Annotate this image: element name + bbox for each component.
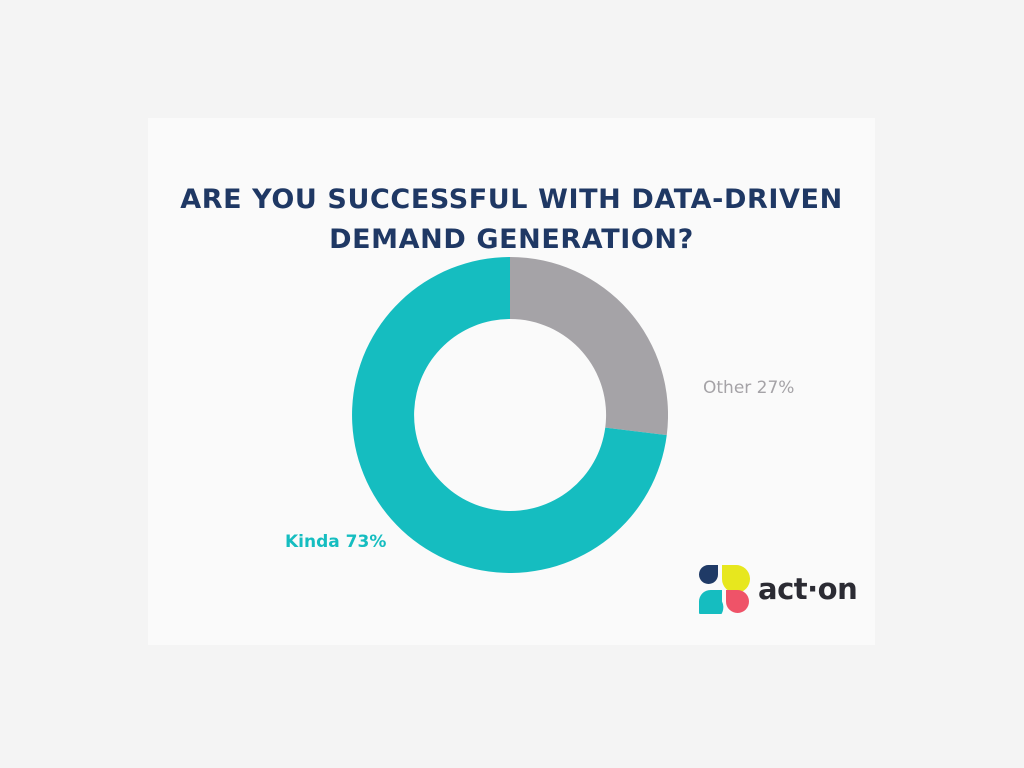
act-on-logo-mark-icon bbox=[698, 564, 750, 614]
yellow-petal-icon bbox=[722, 565, 750, 593]
pink-petal-icon bbox=[726, 590, 749, 613]
navy-petal-icon bbox=[699, 565, 718, 584]
chart-title: ARE YOU SUCCESSFUL WITH DATA-DRIVEN DEMA… bbox=[148, 180, 875, 260]
slice-label-other: Other 27% bbox=[703, 378, 794, 398]
teal-petal-icon bbox=[699, 590, 723, 614]
donut-chart bbox=[352, 257, 668, 573]
slice-label-kinda: Kinda 73% bbox=[285, 532, 386, 552]
donut-slice-other[interactable] bbox=[510, 257, 668, 435]
donut-chart-svg bbox=[352, 257, 668, 573]
slide-canvas: ARE YOU SUCCESSFUL WITH DATA-DRIVEN DEMA… bbox=[0, 0, 1024, 768]
act-on-wordmark: act·on bbox=[758, 575, 857, 604]
act-on-logo: act·on bbox=[698, 561, 833, 617]
